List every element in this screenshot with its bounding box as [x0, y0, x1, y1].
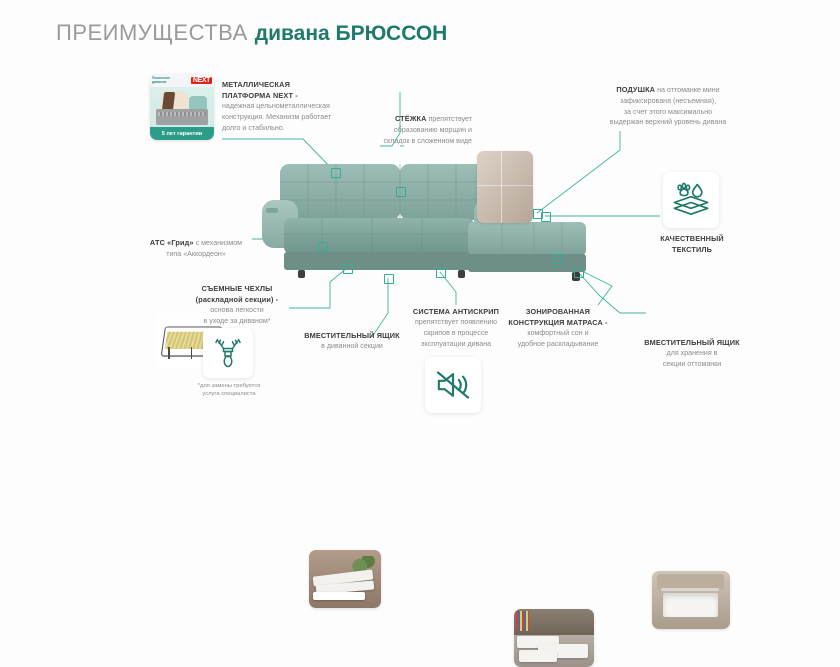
mute-speaker-icon: [433, 365, 473, 405]
quality-textile-icon-tile: [663, 172, 719, 228]
callout-storage-box-ottoman: ВМЕСТИТЕЛЬНЫЙ ЯЩИК для хранения в секции…: [634, 337, 750, 370]
next-brand-text: Поколениедиванов: [152, 77, 170, 84]
hotspot-marker-grid: [318, 242, 328, 252]
anti-squeak-icon-tile: [425, 357, 481, 413]
hotspot-marker-quilting: [396, 187, 406, 197]
callout-pillow: ПОДУШКА на оттоманке мини зафиксирована …: [570, 84, 766, 128]
ottoman-drawer-photo: [652, 571, 730, 629]
hotspot-marker-antisqueak: [436, 268, 446, 278]
hotspot-marker-drawer-sofa: [384, 274, 394, 284]
title-part-advantages: ПРЕИМУЩЕСТВА: [56, 20, 248, 45]
hotspot-marker-drawer-ottoman: [574, 268, 584, 278]
callout-anti-squeak: СИСТЕМА АНТИСКРИП препятствует появлению…: [400, 306, 512, 349]
next-promo-header: Поколениедиванов NEXT: [150, 74, 214, 87]
hotspot-marker-covers: [343, 264, 353, 274]
callout-zoned-mattress: ЗОНИРОВАННАЯКОНСТРУКЦИЯ МАТРАСА - комфор…: [500, 306, 616, 350]
callout-removable-covers: СЪЕМНЫЕ ЧЕХЛЫ(раскладной секции) - основ…: [183, 283, 291, 327]
unfolded-mattress-photo: [514, 609, 594, 667]
callout-storage-box-sofa: ВМЕСТИТЕЛЬНЫЙ ЯЩИК в диванной секции: [296, 330, 408, 352]
next-platform-photo: Поколениедиванов NEXT 5 лет гарантии: [150, 74, 214, 140]
paw-water-fabric-icon: [671, 180, 711, 220]
title-part-product: дивана БРЮССОН: [255, 22, 448, 45]
callout-metal-platform: МЕТАЛЛИЧЕСКАЯПЛАТФОРМА NEXT - надежная ц…: [222, 79, 354, 134]
sofa-drawer-photo: [309, 550, 381, 608]
armchair-illustration: [156, 90, 208, 125]
hotspot-marker-textile: [541, 212, 551, 222]
callout-ats-grid: АТС «Грид» с механизмом типа «Аккордеон»: [140, 237, 252, 260]
page-title: ПРЕИМУЩЕСТВАдивана БРЮССОН: [56, 20, 447, 46]
infographic-canvas: ПРЕИМУЩЕСТВАдивана БРЮССОН: [0, 0, 840, 450]
zipper-icon: [210, 335, 246, 371]
quilted-fabric-swatch: [477, 151, 533, 223]
next-badge: NEXT: [191, 77, 212, 84]
callout-quilting: СТЁЖКА препятствует образованию морщин и…: [380, 113, 472, 146]
warranty-banner: 5 лет гарантии: [150, 127, 214, 140]
hotspot-marker-mattress: [552, 254, 562, 264]
removable-covers-footnote: *для замены требуется услуга специалиста: [183, 382, 275, 398]
zipper-icon-tile: [203, 328, 253, 378]
callout-quality-textile: КАЧЕСТВЕННЫЙТЕКСТИЛЬ: [646, 233, 738, 255]
hotspot-marker-platform: [331, 168, 341, 178]
